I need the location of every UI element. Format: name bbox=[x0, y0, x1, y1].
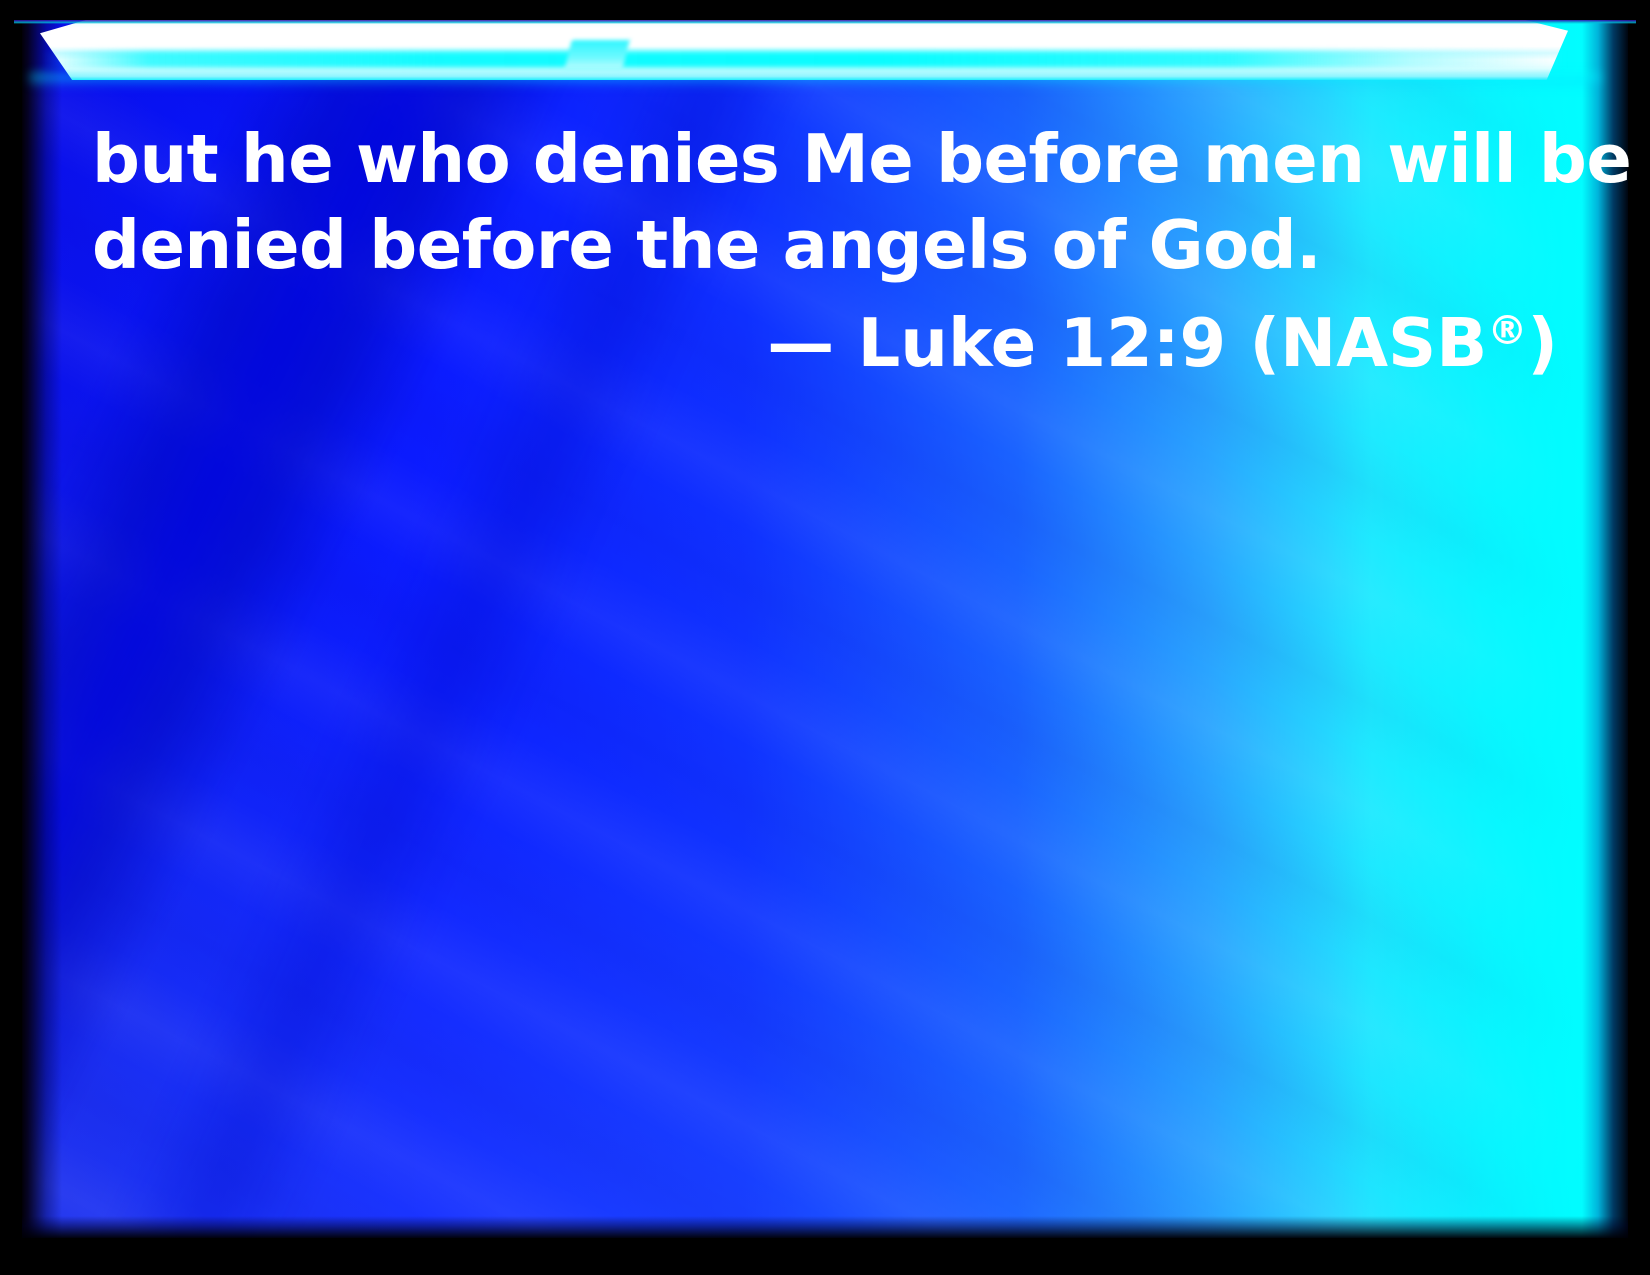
bezel-right bbox=[1636, 0, 1650, 1275]
top-glow-bar-notch bbox=[564, 40, 629, 70]
bezel-bottom bbox=[0, 1239, 1650, 1275]
background-right-vignette bbox=[1582, 20, 1628, 1238]
top-glow-bar bbox=[40, 20, 1568, 80]
bezel-left bbox=[0, 0, 14, 1275]
background-left-vignette bbox=[22, 20, 62, 1238]
top-glow-bar-cyan-streak bbox=[42, 51, 1566, 68]
background-bottom-vignette bbox=[22, 1216, 1628, 1238]
bezel-top bbox=[0, 0, 1650, 20]
slide-canvas bbox=[22, 20, 1628, 1238]
scripture-slide: but he who denies Me before men will be … bbox=[0, 0, 1650, 1275]
top-glow-bar-underglow bbox=[30, 74, 1600, 88]
